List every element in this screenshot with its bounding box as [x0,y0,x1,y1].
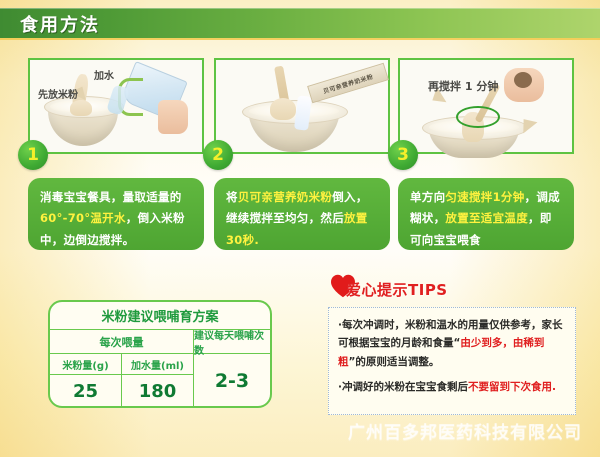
plain-text: ·冲调好的米粉在宝宝食剩后 [338,381,468,393]
table-value-water: 180 [122,375,193,407]
plain-text: ”的原则适当调整。 [349,356,440,368]
table-group-header: 每次喂量 [50,330,193,354]
highlighted-text: 匀速搅拌1分钟 [445,190,524,204]
header-underline [0,38,600,40]
step-image-panel-2: 贝可亲营养奶米粉 [214,58,390,154]
tips-content-box: ·每次冲调时，米粉和温水的用量仅供参考，家长可根据宝宝的月龄和食量“由少到多，由… [328,307,576,415]
step-image-panel-1: 先放米粉 加水 [28,58,204,154]
table-value-powder: 25 [50,375,121,407]
highlighted-text: 贝可亲营养奶米粉 [238,190,332,204]
tips-item-2: ·冲调好的米粉在宝宝食剩后不要留到下次食用. [338,378,566,396]
stir-direction-ring [456,106,500,128]
panel-label-put-powder: 先放米粉 [38,86,78,101]
plain-text: 单方向 [410,190,445,204]
panel-label-stir-one-minute: 再搅拌 1 分钟 [428,78,498,94]
table-cell-powder: 米粉量(g) 25 [50,354,122,407]
table-sub-row: 米粉量(g) 25 加水量(ml) 180 [50,354,193,407]
table-col-per-feed: 每次喂量 米粉量(g) 25 加水量(ml) 180 [50,330,194,408]
plain-text: 消毒宝宝餐具，量取适量的 [40,190,182,204]
step-image-panel-3: 再搅拌 1 分钟 [398,58,574,154]
step-badge-2: 2 [203,140,233,170]
step-badge-1: 1 [18,140,48,170]
step-description-2: 将贝可亲营养奶米粉倒入，继续搅拌至均匀，然后放置30秒. [214,178,390,250]
product-package-label: 贝可亲营养奶米粉 [307,63,389,104]
table-header-frequency: 建议每天喂哺次数 [194,330,270,354]
table-subheader-powder: 米粉量(g) [50,354,121,375]
page-root: 食用方法 先放米粉 加水 贝可亲营养奶米粉 [0,0,600,457]
table-value-frequency: 2-3 [194,354,270,408]
feeding-plan-table: 米粉建议喂哺育方案 每次喂量 米粉量(g) 25 加水量(ml) 180 建议每… [48,300,272,408]
tips-item-1: ·每次冲调时，米粉和温水的用量仅供参考，家长可根据宝宝的月龄和食量“由少到多，由… [338,316,566,371]
header-bar: 食用方法 [0,8,600,38]
step-description-1: 消毒宝宝餐具，量取适量的60°-70°温开水，倒入米粉中，边倒边搅拌。 [28,178,204,250]
company-watermark: 广州百多邦医药科技有限公司 [0,418,582,443]
table-cell-water: 加水量(ml) 180 [122,354,193,407]
panel-label-add-water: 加水 [94,67,114,82]
tips-title: 爱心提示TIPS [346,279,448,300]
thumb-3 [514,72,532,88]
highlighted-text: 放置至适宜温度 [445,211,528,225]
table-body: 每次喂量 米粉量(g) 25 加水量(ml) 180 建议每天喂哺次数 2-3 [50,330,270,408]
step-description-3: 单方向匀速搅拌1分钟，调成糊状，放置至适宜温度，即可向宝宝喂食 [398,178,574,250]
hand-1 [158,100,188,134]
highlighted-text: 不要留到下次食用. [468,381,556,393]
plain-text: 将 [226,190,238,204]
highlighted-text: 60°-70°温开水 [40,211,126,225]
step-badge-3: 3 [388,140,418,170]
page-title: 食用方法 [20,11,100,37]
table-col-frequency: 建议每天喂哺次数 2-3 [194,330,270,408]
powder-mound-1 [70,100,92,116]
powder-mound-2 [270,98,296,120]
table-subheader-water: 加水量(ml) [122,354,193,375]
